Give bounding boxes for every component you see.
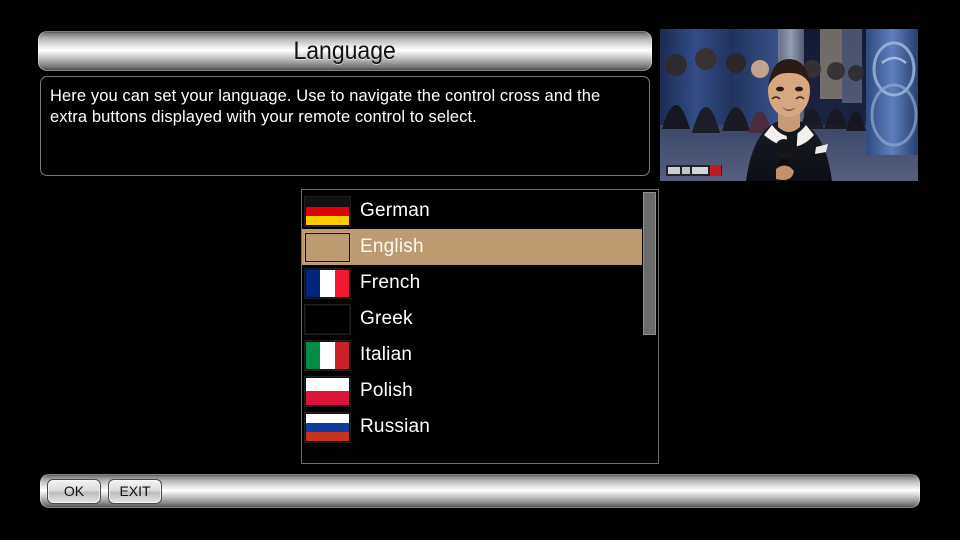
exit-button-label: EXIT [119,483,150,499]
ok-button[interactable]: OK [47,479,101,504]
description-text: Here you can set your language. Use to n… [50,86,637,128]
list-item-greek[interactable]: Greek [302,301,642,337]
language-list[interactable]: German English French [301,189,659,464]
gb-flag-icon [305,233,350,262]
list-item-label: French [360,272,420,294]
ok-button-label: OK [64,483,84,499]
page-title: Language [294,37,396,66]
list-item-polish[interactable]: Polish [302,373,642,409]
ru-flag-icon [305,413,350,442]
list-item-label: Russian [360,416,430,438]
list-item-label: Italian [360,344,412,366]
list-item-german[interactable]: German [302,193,642,229]
de-flag-icon [305,197,350,226]
fr-flag-icon [305,269,350,298]
description-panel: Here you can set your language. Use to n… [40,76,650,176]
list-item-french[interactable]: French [302,265,642,301]
scrollbar-thumb[interactable] [643,192,656,335]
it-flag-icon [305,341,350,370]
language-list-items: German English French [302,193,642,445]
list-item-label: Greek [360,308,413,330]
exit-button[interactable]: EXIT [108,479,162,504]
list-item-label: Polish [360,380,413,402]
video-preview[interactable] [660,29,918,181]
list-item-label: English [360,236,424,258]
list-item-label: German [360,200,430,222]
list-item-russian[interactable]: Russian [302,409,642,445]
list-item-english[interactable]: English [302,229,642,265]
video-frame [660,29,918,181]
list-scrollbar[interactable] [643,192,656,463]
footer-bar: OK EXIT [40,474,920,508]
channel-logo [666,165,722,176]
tv-settings-screen: Language Here you can set your language.… [0,0,960,540]
list-item-italian[interactable]: Italian [302,337,642,373]
gr-flag-icon [305,305,350,334]
title-bar: Language [38,31,652,71]
pl-flag-icon [305,377,350,406]
